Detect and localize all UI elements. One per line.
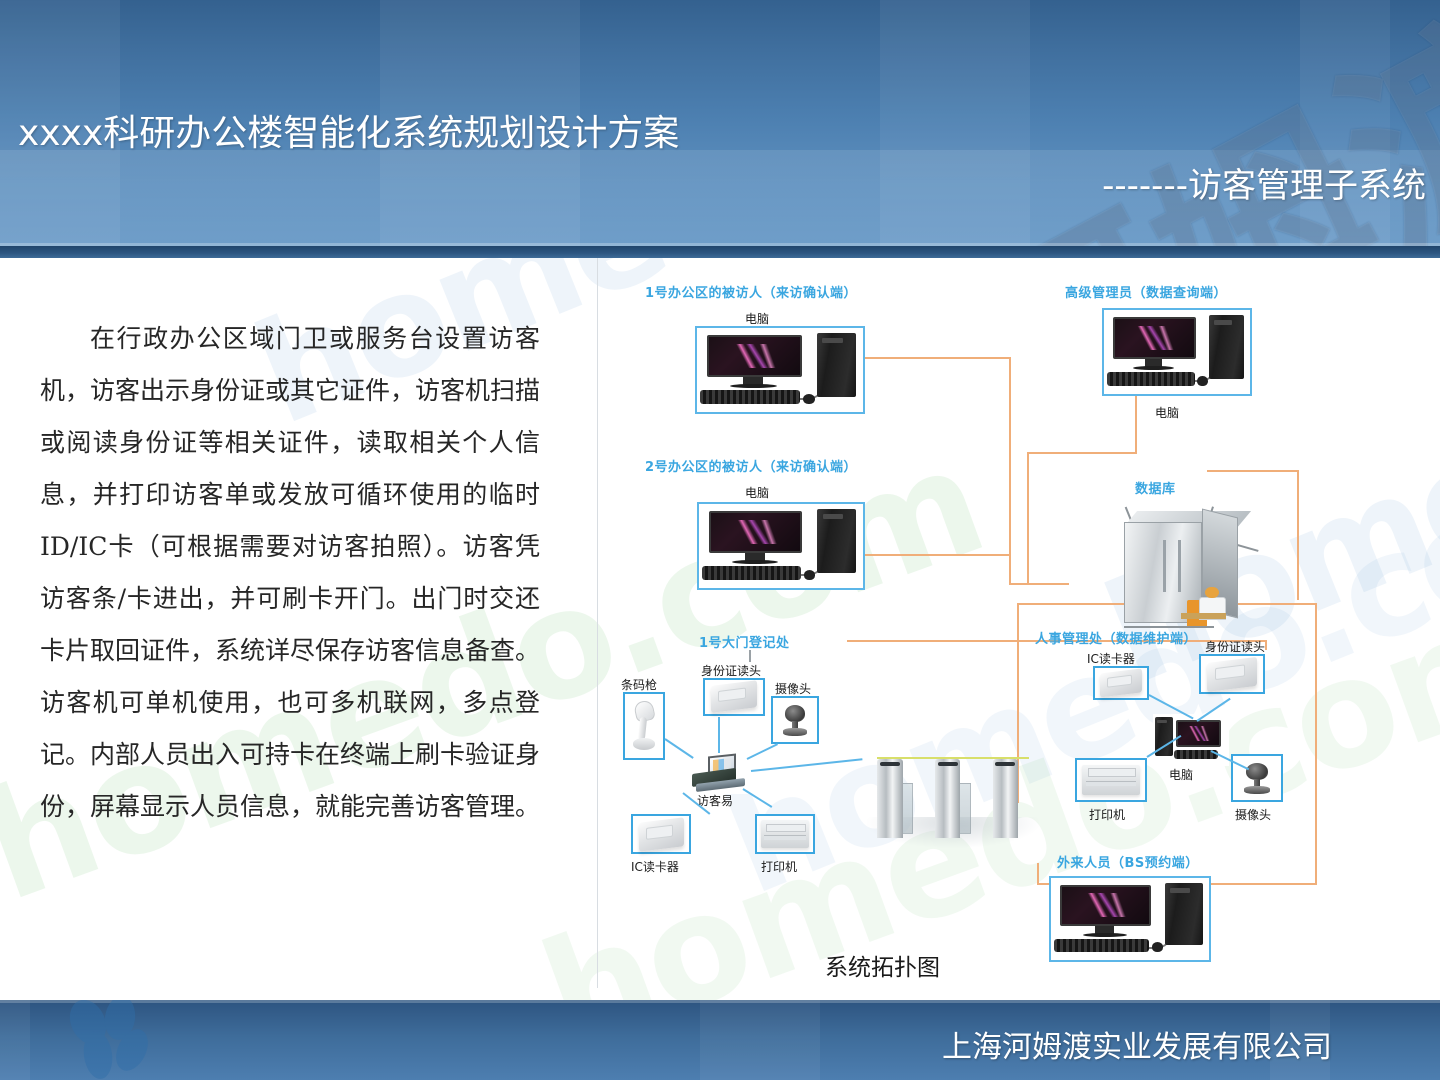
link-gate-turnstile	[751, 758, 863, 772]
slide-header: 河姆渡 xxxx科研办公楼智能化系统规划设计方案 -------访客管理子系统	[0, 0, 1440, 258]
keyboard-icon	[702, 566, 800, 579]
pc-illustration	[1051, 878, 1209, 960]
device-label-gate-scanner: 条码枪	[621, 676, 657, 693]
device-office1-pc[interactable]	[695, 326, 865, 414]
device-label-hr-pc: 电脑	[1169, 766, 1193, 783]
wire-db-right-top	[1207, 470, 1299, 472]
wire-office1-trunk	[865, 357, 1011, 359]
body-paragraph: 在行政办公区域门卫或服务台设置访客机，访客出示身份证或其它证件，访客机扫描或阅读…	[40, 313, 540, 833]
pc-illustration	[1104, 310, 1250, 394]
rack-slot	[1163, 540, 1166, 592]
mouse-icon	[804, 570, 815, 580]
printer-icon	[761, 820, 808, 847]
wire-admin-to-db	[1027, 452, 1029, 584]
scanner-stand	[633, 738, 656, 749]
mouse-icon	[1197, 376, 1207, 386]
header-rule-dark	[0, 246, 1440, 258]
device-label-office2-pc: 电脑	[745, 484, 769, 501]
link-gate-printer	[742, 788, 772, 808]
group-title-database: 数据库	[1135, 478, 1176, 497]
device-gate-barcode-scanner[interactable]	[623, 692, 665, 760]
camera-foot	[783, 728, 807, 735]
barcode-scanner-icon	[627, 698, 660, 754]
device-label-hr-id: 身份证读头	[1205, 638, 1265, 655]
device-label-office1-pc: 电脑	[745, 310, 769, 327]
link-gate-id	[718, 717, 720, 753]
wire-db-right-vertical	[1297, 470, 1299, 600]
device-label-hr-ic: IC读卡器	[1087, 650, 1135, 667]
device-label-hr-camera: 摄像头	[1235, 806, 1271, 823]
keyboard-icon	[700, 390, 800, 403]
tower-icon	[1165, 883, 1203, 945]
pc-illustration	[699, 504, 863, 588]
card-reader-icon	[639, 817, 684, 851]
group-title-gate: 1号大门登记处	[699, 632, 790, 651]
gate-beam	[877, 757, 1028, 759]
id-reader-icon	[711, 681, 757, 714]
gate-pillar	[993, 759, 1018, 838]
device-label-hr-printer: 打印机	[1089, 806, 1125, 823]
device-label-gate-id: 身份证读头	[701, 662, 761, 679]
monitor-base	[730, 384, 776, 388]
monitor-base	[1133, 366, 1174, 370]
device-label-gate-ic: IC读卡器	[631, 858, 679, 875]
camera-lens	[785, 705, 806, 722]
monitor-icon	[709, 511, 802, 553]
device-visitor-pc[interactable]	[1049, 876, 1211, 962]
id-reader-icon	[1207, 657, 1257, 692]
gate-pillar	[935, 759, 960, 838]
system-topology-diagram: 1号办公区的被访人（来访确认端） 电脑 高级管理员（数据查询端）	[597, 258, 1440, 1000]
rack-slot	[1178, 540, 1181, 592]
keyboard-icon	[1054, 939, 1149, 952]
device-database-rack[interactable]	[1115, 506, 1265, 636]
device-hr-id-reader[interactable]	[1199, 654, 1265, 694]
footer-rule	[0, 1000, 1440, 1003]
tower-icon	[817, 333, 857, 397]
group-title-admin: 高级管理员（数据查询端）	[1065, 282, 1227, 301]
wire-admin-left	[1027, 452, 1137, 454]
desk-icon	[1181, 613, 1226, 620]
device-label-gate-camera: 摄像头	[775, 680, 811, 697]
mouse-icon	[1152, 942, 1163, 952]
page-subtitle: -------访客管理子系统	[1102, 158, 1426, 207]
mouse-icon	[803, 394, 815, 404]
monitor-icon	[707, 335, 802, 377]
person-head	[1205, 587, 1219, 599]
device-hr-ic-reader[interactable]	[1093, 666, 1149, 700]
company-name: 上海河姆渡实业发展有限公司	[942, 1022, 1332, 1066]
turnstile-gates	[863, 728, 1043, 848]
pc-illustration	[1153, 714, 1229, 766]
monitor-icon	[1060, 885, 1150, 926]
monitor-base	[1083, 933, 1127, 937]
wire-gate-hr-drop	[1265, 640, 1267, 650]
device-gate-ic-reader[interactable]	[631, 814, 691, 854]
camera-icon	[777, 702, 814, 739]
device-hr-printer[interactable]	[1075, 758, 1147, 802]
wire-hr-frame-right	[1315, 603, 1317, 883]
keyboard-icon	[1107, 372, 1195, 385]
scanner-grip	[638, 717, 648, 740]
monitor-icon	[1176, 720, 1222, 747]
tower-icon	[817, 509, 856, 573]
slide-footer: 上海河姆渡实业发展有限公司	[0, 1000, 1440, 1080]
device-admin-pc[interactable]	[1102, 308, 1252, 396]
device-hr-pc[interactable]	[1153, 714, 1229, 766]
camera-lens	[1246, 763, 1269, 780]
group-title-office1: 1号办公区的被访人（来访确认端）	[645, 282, 857, 301]
printer-icon	[1082, 765, 1139, 795]
monitor-base	[732, 560, 778, 564]
device-gate-printer[interactable]	[755, 814, 815, 854]
page-title: xxxx科研办公楼智能化系统规划设计方案	[18, 104, 679, 156]
device-gate-id-reader[interactable]	[703, 678, 765, 716]
slide-body: homedo.com homedo.com homedo.com homedo.…	[0, 258, 1440, 1000]
visitor-kiosk-icon	[690, 754, 751, 793]
device-office2-pc[interactable]	[697, 502, 865, 590]
gate-title-tick	[749, 650, 751, 662]
device-label-admin-pc: 电脑	[1155, 404, 1179, 421]
group-title-visitor: 外来人员（BS预约端）	[1057, 852, 1199, 871]
wire-office2-trunk	[865, 554, 1011, 556]
footer-band	[700, 1000, 820, 1080]
tower-icon	[1209, 315, 1244, 379]
flower-logo-icon	[58, 1000, 208, 1080]
monitor-icon	[1113, 317, 1196, 359]
card-reader-icon	[1100, 668, 1142, 697]
wire-trunk-to-db	[1009, 583, 1069, 585]
pc-illustration	[697, 328, 863, 412]
device-gate-camera[interactable]	[771, 696, 819, 744]
group-title-office2: 2号办公区的被访人（来访确认端）	[645, 456, 857, 475]
device-label-gate-printer: 打印机	[761, 858, 797, 875]
wire-trunk-vertical-2	[1009, 554, 1011, 584]
footer-band	[0, 1000, 30, 1080]
diagram-caption: 系统拓扑图	[825, 948, 940, 982]
wire-visitor-drop	[1037, 863, 1039, 885]
link-gate-scanner	[664, 738, 693, 759]
gate-pillar	[877, 759, 902, 838]
camera-foot	[1244, 786, 1270, 793]
device-hr-camera[interactable]	[1231, 754, 1283, 802]
group-title-hr: 人事管理处（数据维护端）	[1035, 628, 1197, 647]
wire-trunk-vertical-1	[1009, 357, 1011, 554]
